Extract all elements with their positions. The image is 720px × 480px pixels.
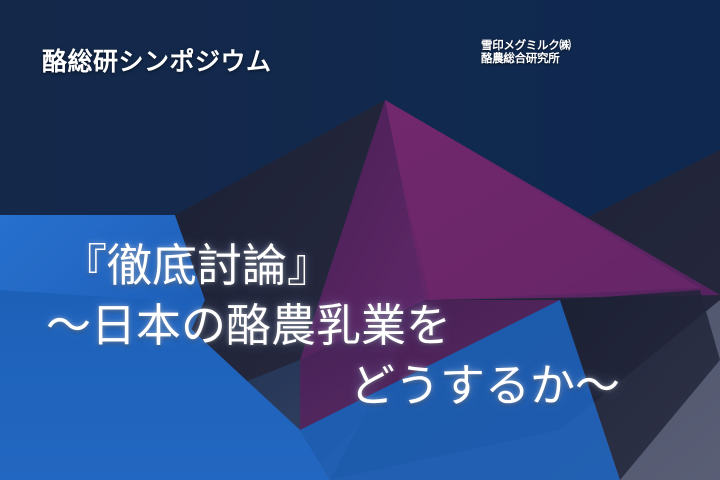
main-title-line-1: 『徹底討論』 <box>0 236 720 296</box>
org-logo-line-1: 雪印メグミルク㈱ <box>481 40 571 53</box>
content-overlay: 酪総研シンポジウム 雪印メグミルク㈱ 酪農総合研究所 『徹底討論』 〜日本の酪農… <box>0 0 720 480</box>
title-slide: 酪総研シンポジウム 雪印メグミルク㈱ 酪農総合研究所 『徹底討論』 〜日本の酪農… <box>0 0 720 480</box>
organization-logo: 雪印メグミルク㈱ 酪農総合研究所 <box>481 40 571 66</box>
main-title-line-2: 〜日本の酪農乳業を <box>0 296 720 356</box>
main-title: 『徹底討論』 〜日本の酪農乳業を どうするか〜 <box>0 236 720 416</box>
event-title: 酪総研シンポジウム <box>42 42 272 78</box>
main-title-line-3: どうするか〜 <box>0 356 720 416</box>
org-logo-line-2: 酪農総合研究所 <box>481 53 571 66</box>
